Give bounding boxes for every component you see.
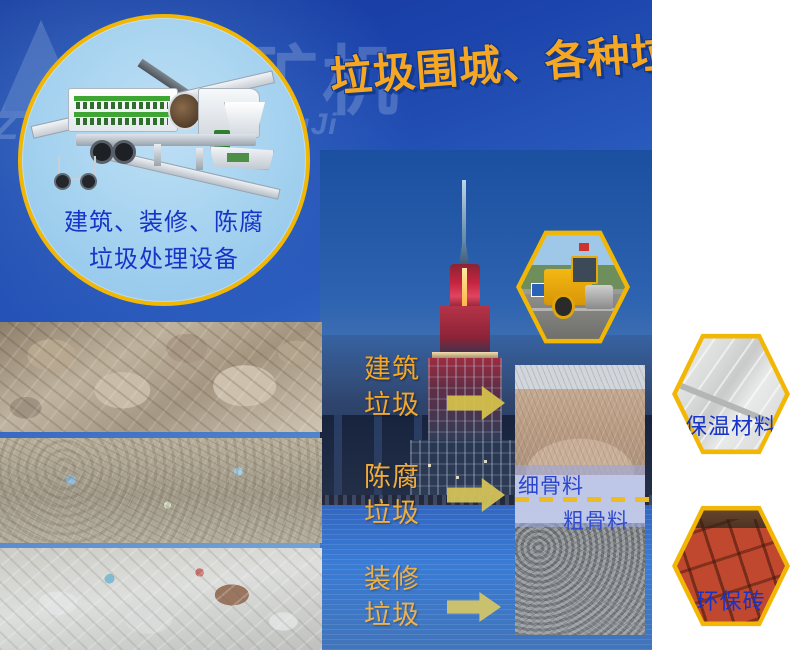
tower-base-section [410, 440, 522, 575]
renovation-waste-image [0, 548, 322, 650]
asphalt-road [521, 294, 625, 342]
waste-photo-construction [0, 322, 322, 432]
watermark-roman-secondary: ZhongJi [214, 108, 338, 142]
aggregate-divider-dashed [515, 497, 652, 502]
watermark-roman-primary: ZOOMJO [0, 104, 179, 149]
machine-side-conveyor [101, 148, 281, 200]
flow-label-construction: 建筑 垃圾 [344, 352, 440, 425]
fine-aggregate-label: 细骨料 [518, 470, 584, 500]
flow-label-line1: 陈腐 [344, 460, 440, 496]
machine-hopper [224, 102, 265, 140]
machine-green-stripe [74, 96, 170, 101]
product-circle-badge: 建筑、装修、陈腐 垃圾处理设备 [18, 14, 310, 306]
tower-crown-lit [450, 264, 480, 310]
roller-drum [585, 285, 612, 309]
flow-label-line2: 垃圾 [344, 388, 440, 424]
machine-motor [214, 130, 230, 150]
red-flag-icon [579, 243, 589, 251]
arrow-right-icon [447, 478, 505, 512]
machine-incline-belt [137, 59, 248, 138]
tower-spire [462, 180, 466, 258]
road-roller-image [521, 232, 625, 342]
waterfront-pier [320, 495, 652, 507]
machine-branding-text-block [76, 118, 168, 125]
arrow-right-icon [447, 592, 501, 622]
brand-logo-icon [0, 20, 84, 118]
flow-label-line2: 垃圾 [344, 598, 440, 634]
machine-crusher-drum [168, 92, 202, 130]
mobile-crusher-machine-image [28, 52, 300, 202]
waste-photo-stale [0, 438, 322, 543]
tower-upper-section [440, 306, 490, 358]
tower-mid-section [428, 358, 502, 444]
machine-long-conveyor [31, 70, 276, 138]
skyscraper [402, 180, 530, 575]
tower-windows [410, 440, 522, 575]
sky-gradient [320, 150, 652, 650]
coarse-aggregate-label: 粗骨料 [563, 505, 629, 535]
tower-setback-ledge [432, 352, 498, 360]
tower-windows [428, 358, 502, 444]
waste-photo-renovation [0, 548, 322, 650]
machine-branding-text-block [76, 102, 168, 109]
flow-label-line2: 垃圾 [344, 496, 440, 532]
arrow-right-icon [447, 386, 505, 420]
machine-support-cart [54, 156, 98, 190]
watermark-han-text: 中誉矿机 [82, 20, 402, 130]
product-hex-road-roller [516, 227, 630, 347]
machine-support-leg [196, 148, 203, 170]
machine-wheel [112, 140, 136, 164]
city-skyline-photo [320, 150, 652, 650]
roller-scene-background [521, 232, 625, 342]
fine-aggregate-image [515, 365, 645, 475]
roller-wheel [552, 294, 575, 320]
flow-label-line1: 装修 [344, 562, 440, 598]
machine-wheel [90, 140, 114, 164]
background-skyline [320, 335, 652, 505]
aggregate-output-panel [515, 365, 645, 635]
machine-cabinet [198, 88, 260, 138]
circle-badge-caption: 建筑、装修、陈腐 垃圾处理设备 [22, 204, 306, 278]
aggregate-label-overlay [515, 465, 645, 527]
construction-rubble-image [0, 322, 322, 432]
roller-body [544, 269, 592, 304]
roller-cab [571, 256, 598, 284]
banner-title: 垃圾围城、各种垃圾处理迫在眉睫 [328, 0, 652, 105]
circle-caption-line2: 垃圾处理设备 [22, 241, 306, 278]
machine-green-stripe [74, 112, 170, 117]
road-sign-icon [531, 283, 545, 297]
blue-background-panel: 中誉矿机 ZOOMJO ZhongJi [0, 0, 652, 650]
coarse-aggregate-image [515, 523, 645, 635]
river-water [320, 505, 652, 650]
flow-label-stale: 陈腐 垃圾 [344, 460, 440, 533]
company-watermark: 中誉矿机 ZOOMJO ZhongJi [0, 16, 314, 136]
machine-support-leg [154, 144, 161, 166]
flow-label-renovation: 装修 垃圾 [344, 562, 440, 635]
machine-main-housing [68, 88, 178, 132]
machine-discharge-tray [210, 146, 274, 170]
banner-stage: 中誉矿机 ZOOMJO ZhongJi [0, 0, 800, 650]
tower-mast [458, 236, 470, 270]
stale-waste-image [0, 438, 322, 543]
flow-label-line1: 建筑 [344, 352, 440, 388]
machine-chassis [76, 134, 256, 146]
circle-caption-line1: 建筑、装修、陈腐 [22, 204, 306, 241]
